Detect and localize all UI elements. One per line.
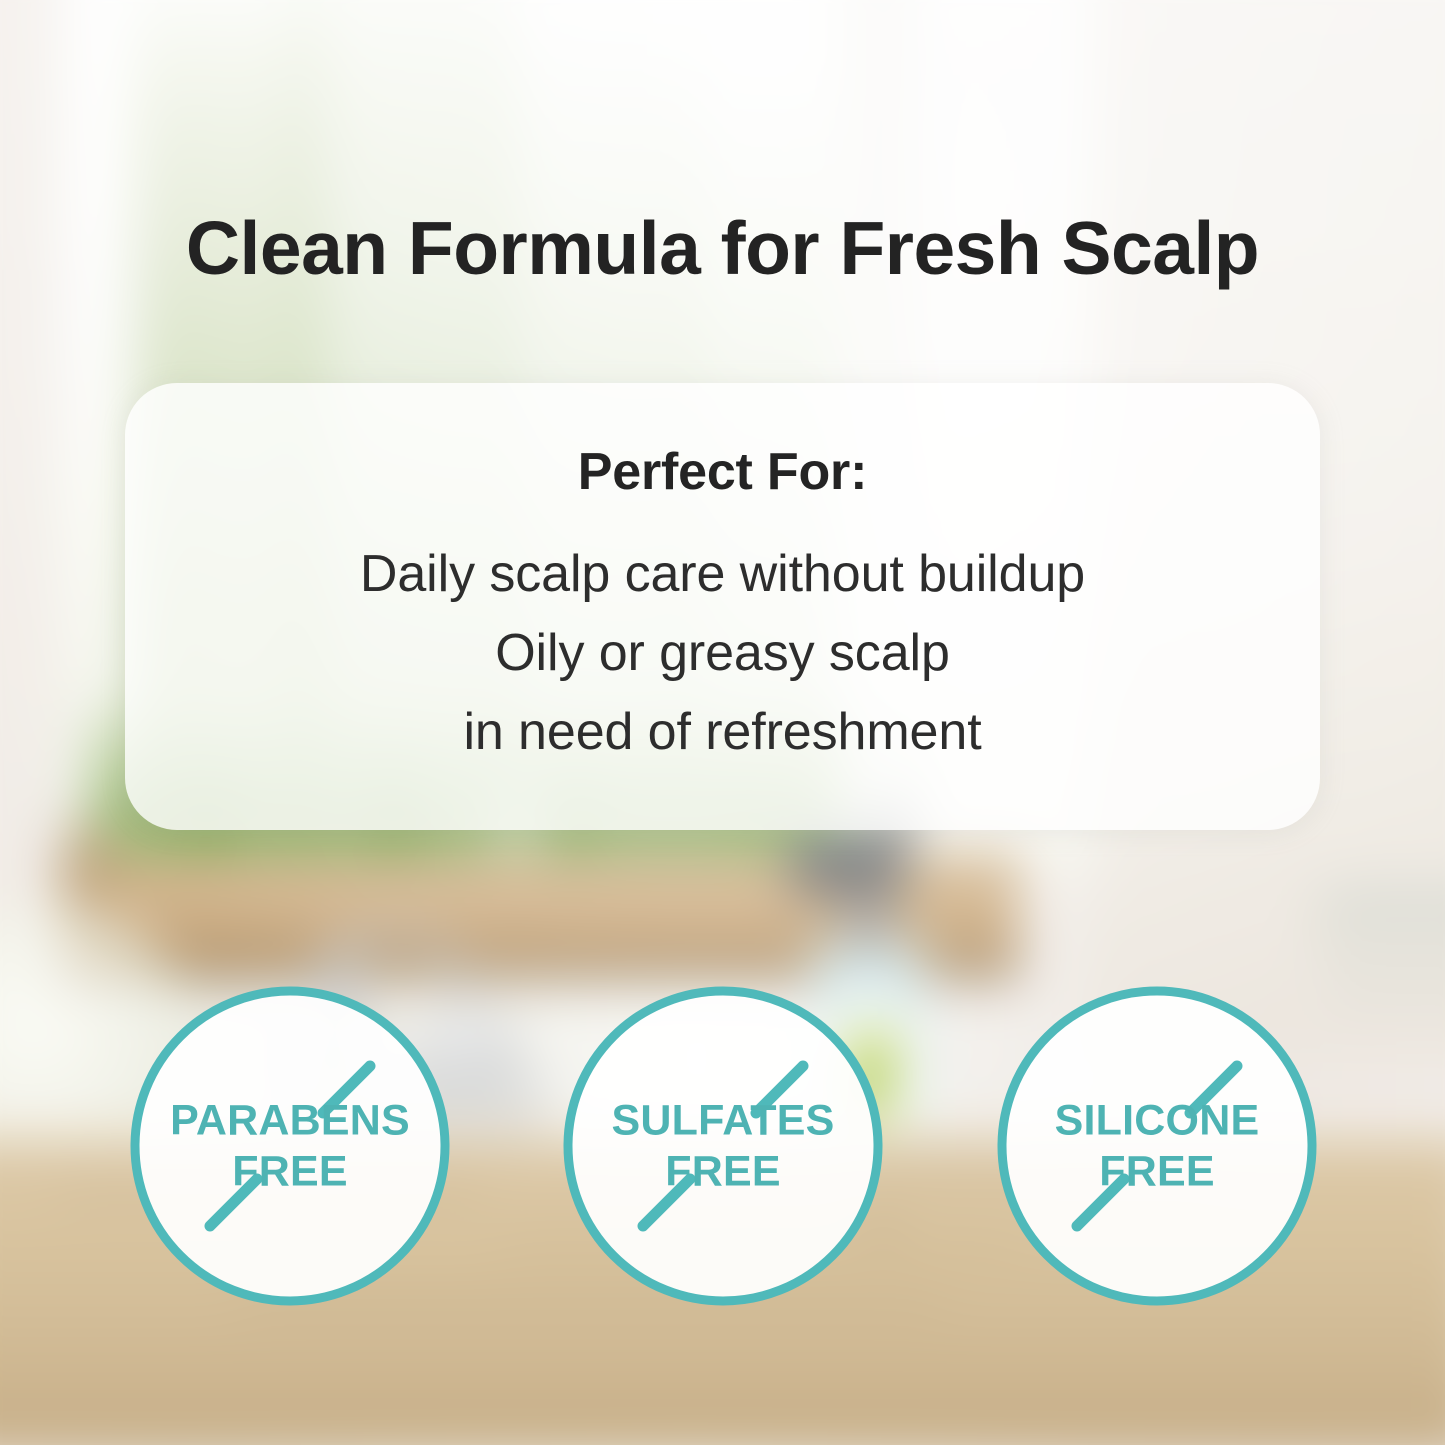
perfect-for-card: Perfect For: Daily scalp care without bu…	[125, 383, 1320, 830]
no-slash-circle-icon	[127, 983, 453, 1309]
card-line-list: Daily scalp care without buildup Oily or…	[125, 535, 1320, 772]
content-layer: Clean Formula for Fresh Scalp Perfect Fo…	[0, 0, 1445, 1445]
badge-silicone-free: SILICONE FREE	[994, 983, 1320, 1309]
card-line: Oily or greasy scalp	[125, 614, 1320, 693]
badge-sulfates-free: SULFATES FREE	[560, 983, 886, 1309]
card-line: Daily scalp care without buildup	[125, 535, 1320, 614]
claims-badge-row: PARABENS FREE SULFATES FREE	[127, 983, 1320, 1309]
product-feature-graphic: Clean Formula for Fresh Scalp Perfect Fo…	[0, 0, 1445, 1445]
no-slash-circle-icon	[560, 983, 886, 1309]
badge-parabens-free: PARABENS FREE	[127, 983, 453, 1309]
card-heading: Perfect For:	[125, 444, 1320, 501]
card-line: in need of refreshment	[125, 693, 1320, 772]
no-slash-circle-icon	[994, 983, 1320, 1309]
page-title: Clean Formula for Fresh Scalp	[0, 206, 1445, 290]
